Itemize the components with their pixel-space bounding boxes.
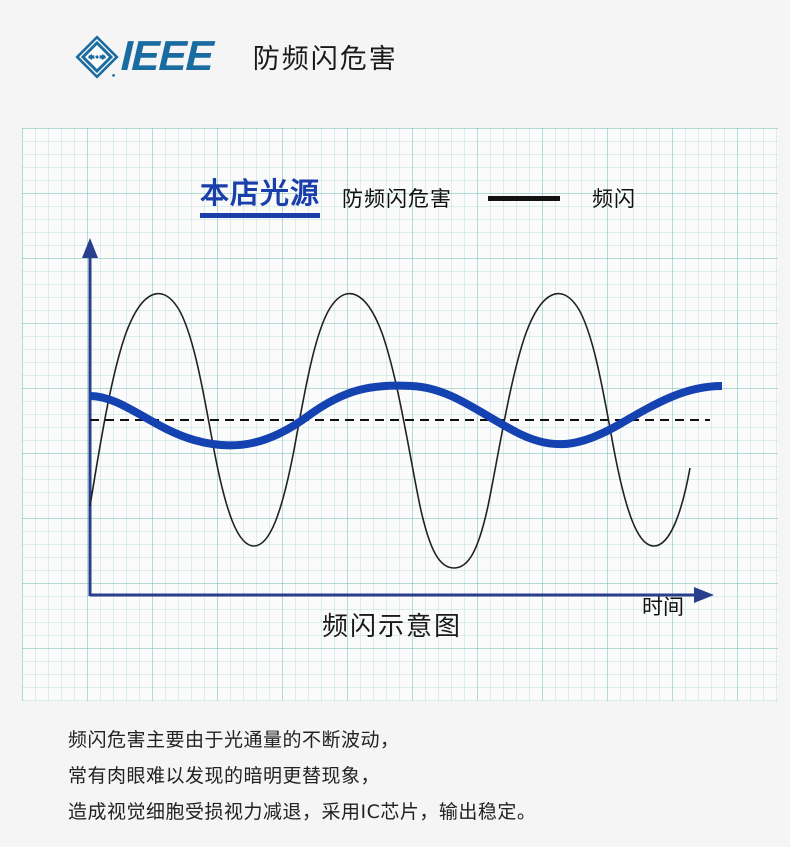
footer-description: 频闪危害主要由于光通量的不断波动， 常有肉眼难以发现的暗明更替现象， 造成视觉细…	[68, 722, 768, 830]
y-axis	[82, 238, 98, 596]
footer-line-1: 频闪危害主要由于光通量的不断波动，	[68, 722, 768, 758]
ieee-logo: IEEE	[74, 34, 213, 78]
x-axis	[90, 587, 714, 603]
ieee-diamond-icon	[74, 34, 120, 80]
footer-line-2: 常有肉眼难以发现的暗明更替现象，	[68, 758, 768, 794]
page-title: 防频闪危害	[253, 37, 398, 76]
footer-line-3: 造成视觉细胞受损视力减退，采用IC芯片，输出稳定。	[68, 794, 768, 830]
ieee-wordmark: IEEE	[120, 34, 213, 78]
chart-caption: 频闪示意图	[322, 606, 462, 643]
graph-paper-panel: 本店光源 防频闪危害 频闪 时间 频闪示意图	[22, 128, 778, 701]
page-header: IEEE 防频闪危害	[0, 0, 790, 112]
x-axis-label: 时间	[642, 591, 684, 621]
